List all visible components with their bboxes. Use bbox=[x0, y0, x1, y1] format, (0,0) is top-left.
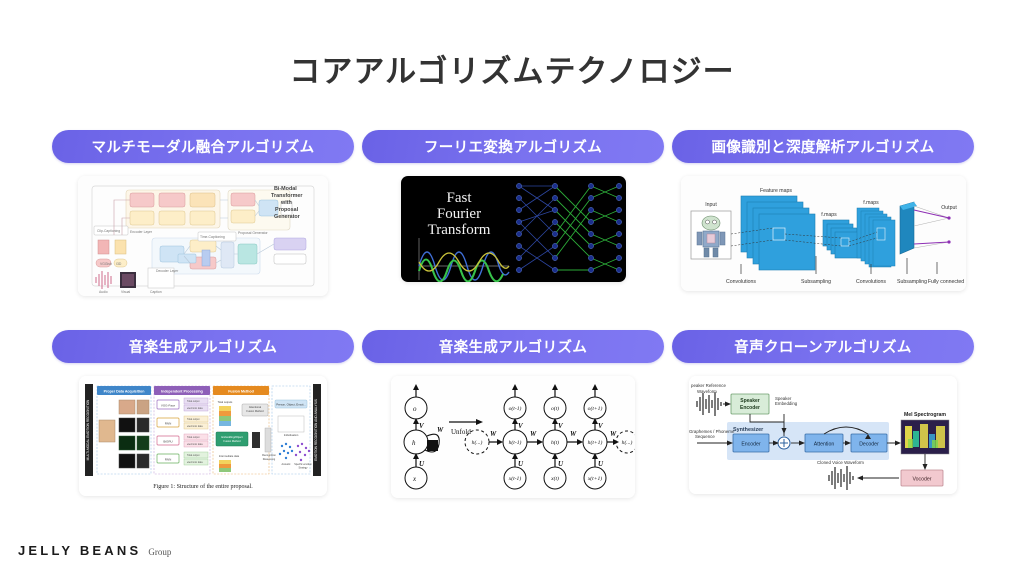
svg-text:Subsampling: Subsampling bbox=[897, 279, 927, 285]
footer-logo: JELLY BEANS Group bbox=[18, 543, 171, 558]
svg-text:Proper Data Acquisition: Proper Data Acquisition bbox=[104, 390, 145, 394]
svg-text:Subsampling: Subsampling bbox=[801, 279, 831, 285]
svg-text:Transform: Transform bbox=[427, 222, 490, 238]
svg-text:h(t-1): h(t-1) bbox=[509, 439, 522, 446]
svg-text:Cloned Voice Waveform: Cloned Voice Waveform bbox=[817, 460, 864, 465]
svg-text:o(t-1): o(t-1) bbox=[509, 405, 522, 412]
svg-text:Attention: Attention bbox=[814, 442, 835, 448]
svg-text:Audio: Audio bbox=[99, 290, 108, 294]
algorithm-card-music-generation-1[interactable]: 音楽生成アルゴリズム MULTI-MODAL EMOTION RECOGNITI… bbox=[52, 330, 354, 496]
svg-text:BiGRU: BiGRU bbox=[163, 440, 172, 444]
svg-text:Sequence: Sequence bbox=[695, 434, 715, 439]
svg-text:Individuation: Individuation bbox=[284, 433, 299, 437]
svg-text:I3D: I3D bbox=[116, 262, 122, 266]
svg-text:Synthesizer: Synthesizer bbox=[733, 427, 764, 433]
svg-text:Attentional: Attentional bbox=[249, 405, 262, 409]
svg-text:Intermediate data: Intermediate data bbox=[219, 454, 240, 458]
svg-text:peaker Reference: peaker Reference bbox=[691, 383, 726, 388]
svg-text:electronic data: electronic data bbox=[187, 461, 203, 464]
svg-text:Embedding: Embedding bbox=[775, 401, 798, 406]
svg-text:f.maps: f.maps bbox=[863, 200, 879, 206]
svg-text:Caption: Caption bbox=[150, 290, 162, 294]
svg-text:RNN: RNN bbox=[165, 458, 172, 462]
algorithm-card-grid: マルチモーダル融合アルゴリズム bbox=[52, 130, 972, 530]
card-pill-label-5[interactable]: 音声クローンアルゴリズム bbox=[672, 330, 974, 363]
svg-text:W: W bbox=[437, 426, 444, 434]
page-title: コアアルゴリズムテクノロジー bbox=[0, 46, 1024, 91]
svg-text:x(t+1): x(t+1) bbox=[587, 475, 602, 482]
svg-text:x(t): x(t) bbox=[550, 475, 559, 482]
voice-cloning-pipeline-diagram: Synthesizer Speaker Encoder Encoder Atte… bbox=[689, 376, 957, 494]
svg-text:W: W bbox=[570, 430, 577, 438]
svg-text:Convolutions: Convolutions bbox=[726, 279, 756, 285]
svg-text:Waveform: Waveform bbox=[697, 389, 717, 394]
brand-suffix: Group bbox=[148, 547, 171, 557]
svg-text:Proposal: Proposal bbox=[275, 207, 299, 213]
svg-text:Fast: Fast bbox=[446, 190, 472, 206]
card-row-2: 音楽生成アルゴリズム MULTI-MODAL EMOTION RECOGNITI… bbox=[52, 330, 972, 530]
svg-text:with: with bbox=[280, 200, 292, 206]
svg-text:Independent Processing: Independent Processing bbox=[161, 390, 203, 394]
svg-text:VGGish: VGGish bbox=[100, 262, 112, 266]
svg-text:Output: Output bbox=[941, 205, 957, 211]
svg-text:Fully connected: Fully connected bbox=[927, 279, 963, 285]
svg-text:Clip-Captioning: Clip-Captioning bbox=[97, 229, 120, 233]
svg-text:Time-Captioning: Time-Captioning bbox=[200, 235, 225, 239]
svg-text:Visual: Visual bbox=[121, 290, 130, 294]
rnn-unfold-diagram: ohx V U W Unfold bbox=[391, 376, 635, 498]
card-pill-label-3[interactable]: 音楽生成アルゴリズム bbox=[52, 330, 354, 363]
cnn-architecture-diagram: Input Feature maps f.maps f.maps Output … bbox=[681, 176, 966, 291]
svg-text:Decoder Layer: Decoder Layer bbox=[156, 269, 179, 273]
svg-text:Total output: Total output bbox=[187, 436, 200, 439]
card-pill-label-0[interactable]: マルチモーダル融合アルゴリズム bbox=[52, 130, 354, 163]
svg-text:VGG-Face: VGG-Face bbox=[161, 404, 176, 408]
svg-text:Transformer: Transformer bbox=[271, 193, 303, 199]
svg-text:Encoder: Encoder bbox=[740, 405, 760, 411]
svg-text:Strategy: Strategy bbox=[299, 467, 309, 470]
card-pill-label-2[interactable]: 画像識別と深度解析アルゴリズム bbox=[672, 130, 974, 163]
svg-text:Total output: Total output bbox=[187, 400, 200, 403]
svg-text:Speaker: Speaker bbox=[740, 398, 760, 404]
svg-text:x(t-1): x(t-1) bbox=[508, 475, 522, 482]
svg-text:Encoder Layer: Encoder Layer bbox=[130, 230, 153, 234]
svg-text:Fusion Method: Fusion Method bbox=[228, 390, 254, 394]
svg-text:Mel Spectrogram: Mel Spectrogram bbox=[904, 412, 946, 418]
svg-text:Proposal Generator: Proposal Generator bbox=[238, 231, 268, 235]
svg-text:Total output: Total output bbox=[187, 454, 200, 457]
algorithm-card-image-recognition[interactable]: 画像識別と深度解析アルゴリズム bbox=[672, 130, 974, 291]
svg-text:Vocoder: Vocoder bbox=[912, 477, 931, 483]
svg-text:Generator: Generator bbox=[274, 214, 301, 220]
svg-text:Acoustic: Acoustic bbox=[281, 463, 291, 466]
svg-text:electronic data: electronic data bbox=[187, 425, 203, 428]
svg-text:Total output: Total output bbox=[187, 418, 200, 421]
svg-text:o: o bbox=[413, 405, 417, 413]
svg-text:h(...): h(...) bbox=[622, 439, 633, 446]
svg-text:electronic data: electronic data bbox=[187, 407, 203, 410]
multimodal-emotion-recognition-figure: MULTI-MODAL EMOTION RECOGNITION EMOTION … bbox=[79, 376, 327, 496]
svg-text:Total outputs: Total outputs bbox=[218, 400, 233, 404]
svg-text:Figure 1: Structure of the ent: Figure 1: Structure of the entire propos… bbox=[153, 483, 253, 490]
svg-text:Decoder: Decoder bbox=[859, 442, 879, 448]
svg-text:W: W bbox=[490, 430, 497, 438]
algorithm-card-fourier[interactable]: フーリエ変換アルゴリズム Fast Fourier Transform bbox=[362, 130, 664, 282]
svg-text:o(t): o(t) bbox=[551, 405, 559, 412]
svg-text:Bi-Modal: Bi-Modal bbox=[274, 186, 297, 192]
svg-text:W: W bbox=[530, 430, 537, 438]
algorithm-card-multimodal[interactable]: マルチモーダル融合アルゴリズム bbox=[52, 130, 354, 296]
card-row-1: マルチモーダル融合アルゴリズム bbox=[52, 130, 972, 330]
svg-text:MULTI-MODAL EMOTION RECOGNITIO: MULTI-MODAL EMOTION RECOGNITION bbox=[86, 399, 90, 460]
svg-text:electronic data: electronic data bbox=[187, 443, 203, 446]
svg-text:Person, Object, Emoti...: Person, Object, Emoti... bbox=[276, 403, 306, 407]
svg-text:h(t): h(t) bbox=[551, 439, 559, 446]
algorithm-card-music-generation-2[interactable]: 音楽生成アルゴリズム bbox=[362, 330, 664, 498]
svg-text:RNN: RNN bbox=[165, 422, 172, 426]
svg-text:Convolutions: Convolutions bbox=[856, 279, 886, 285]
svg-text:h(t+1): h(t+1) bbox=[588, 439, 603, 446]
card-pill-label-4[interactable]: 音楽生成アルゴリズム bbox=[362, 330, 664, 363]
bi-modal-transformer-diagram: Bi-Modal Transformer with Proposal Gener… bbox=[78, 176, 328, 296]
algorithm-card-voice-clone[interactable]: 音声クローンアルゴリズム Synthesizer Speaker Encoder bbox=[672, 330, 974, 494]
svg-text:Fusion Method: Fusion Method bbox=[246, 409, 264, 413]
svg-text:Encoder: Encoder bbox=[741, 442, 761, 448]
svg-text:Embedding/Object: Embedding/Object bbox=[221, 435, 243, 439]
svg-text:o(t+1): o(t+1) bbox=[588, 405, 603, 412]
svg-text:W: W bbox=[610, 430, 617, 438]
svg-text:h: h bbox=[412, 439, 416, 447]
fast-fourier-transform-figure: Fast Fourier Transform bbox=[401, 176, 626, 282]
svg-text:Recognition: Recognition bbox=[262, 453, 276, 457]
svg-text:Fusion Method: Fusion Method bbox=[223, 439, 241, 443]
svg-text:Fourier: Fourier bbox=[436, 206, 480, 222]
svg-text:Input: Input bbox=[705, 202, 717, 208]
svg-text:Unfold: Unfold bbox=[451, 428, 471, 436]
svg-text:EMOTION RECOGNITION AND ANALYS: EMOTION RECOGNITION AND ANALYSIS bbox=[314, 399, 318, 461]
brand-name: JELLY BEANS bbox=[18, 543, 141, 558]
svg-text:Reasoning: Reasoning bbox=[263, 457, 276, 461]
svg-text:f.maps: f.maps bbox=[821, 212, 837, 218]
card-pill-label-1[interactable]: フーリエ変換アルゴリズム bbox=[362, 130, 664, 163]
slide-root: コアアルゴリズムテクノロジー マルチモーダル融合アルゴリズム bbox=[0, 0, 1024, 576]
svg-text:h(...): h(...) bbox=[472, 439, 483, 446]
svg-text:Feature maps: Feature maps bbox=[759, 188, 791, 194]
